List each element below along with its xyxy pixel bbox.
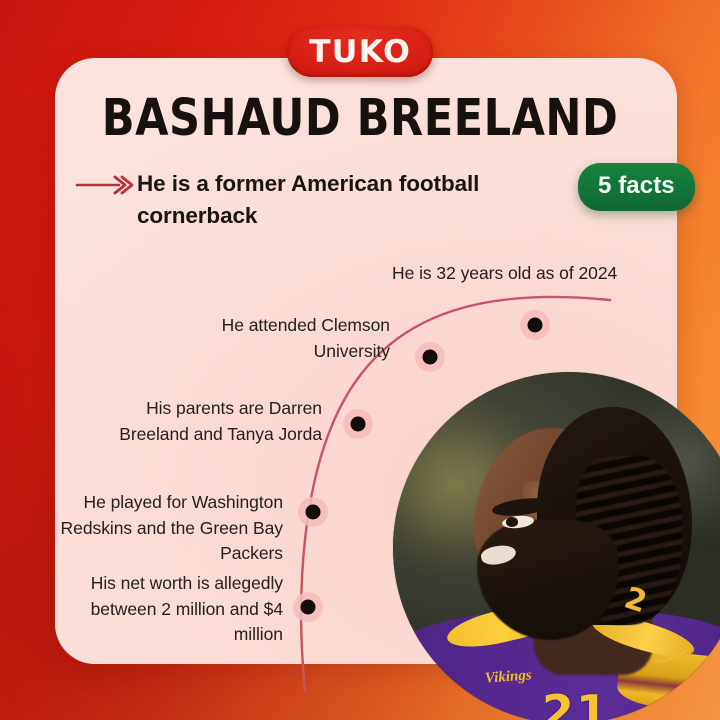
tuko-logo-text: TUKO bbox=[309, 37, 411, 68]
subtitle-row: He is a former American football cornerb… bbox=[75, 168, 575, 232]
jersey-number: 21 bbox=[509, 685, 643, 720]
facts-count-badge: 5 facts bbox=[578, 163, 695, 211]
nike-swoosh-icon bbox=[652, 647, 692, 663]
fact-label-age: He is 32 years old as of 2024 bbox=[392, 261, 638, 287]
tuko-logo[interactable]: TUKO bbox=[287, 27, 433, 77]
fact-label-parents: His parents are Darren Breeland and Tany… bbox=[90, 396, 322, 447]
portrait-photo: 2 Vikings 21 bbox=[393, 372, 720, 720]
fact-label-teams: He played for Washington Redskins and th… bbox=[58, 490, 283, 567]
page-title: BASHAUD BREELAND bbox=[22, 92, 699, 146]
arrow-right-double-icon bbox=[75, 172, 137, 198]
subtitle-text: He is a former American football cornerb… bbox=[137, 168, 542, 232]
fact-label-college: He attended Clemson University bbox=[190, 313, 390, 364]
fact-label-net-worth: His net worth is allegedly between 2 mil… bbox=[58, 571, 283, 648]
infographic-canvas: TUKO BASHAUD BREELAND He is a former Ame… bbox=[0, 0, 720, 720]
